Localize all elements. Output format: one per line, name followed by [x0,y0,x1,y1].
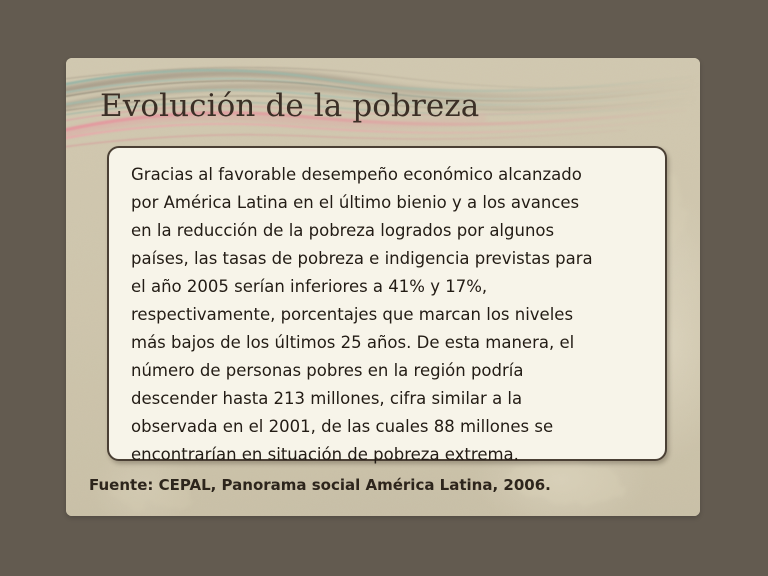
body-line: encontrarían en situación de pobreza ext… [131,441,653,469]
body-line: el año 2005 serían inferiores a 41% y 17… [131,273,653,301]
body-line: en la reducción de la pobreza logrados p… [131,217,653,245]
body-line: observada en el 2001, de las cuales 88 m… [131,413,653,441]
body-text-box: Gracias al favorable desempeño económico… [107,146,667,461]
body-paragraph: Gracias al favorable desempeño económico… [131,161,653,469]
source-citation: Fuente: CEPAL, Panorama social América L… [89,476,551,494]
presentation-slide: Evolución de la pobreza Gracias al favor… [66,58,700,516]
body-line: más bajos de los últimos 25 años. De est… [131,329,653,357]
body-line: por América Latina en el último bienio y… [131,189,653,217]
body-line: Gracias al favorable desempeño económico… [131,161,653,189]
page-title: Evolución de la pobreza [100,86,479,126]
body-line: número de personas pobres en la región p… [131,357,653,385]
body-line: respectivamente, porcentajes que marcan … [131,301,653,329]
body-line: países, las tasas de pobreza e indigenci… [131,245,653,273]
body-line: descender hasta 213 millones, cifra simi… [131,385,653,413]
slide-canvas: Evolución de la pobreza Gracias al favor… [0,0,768,576]
